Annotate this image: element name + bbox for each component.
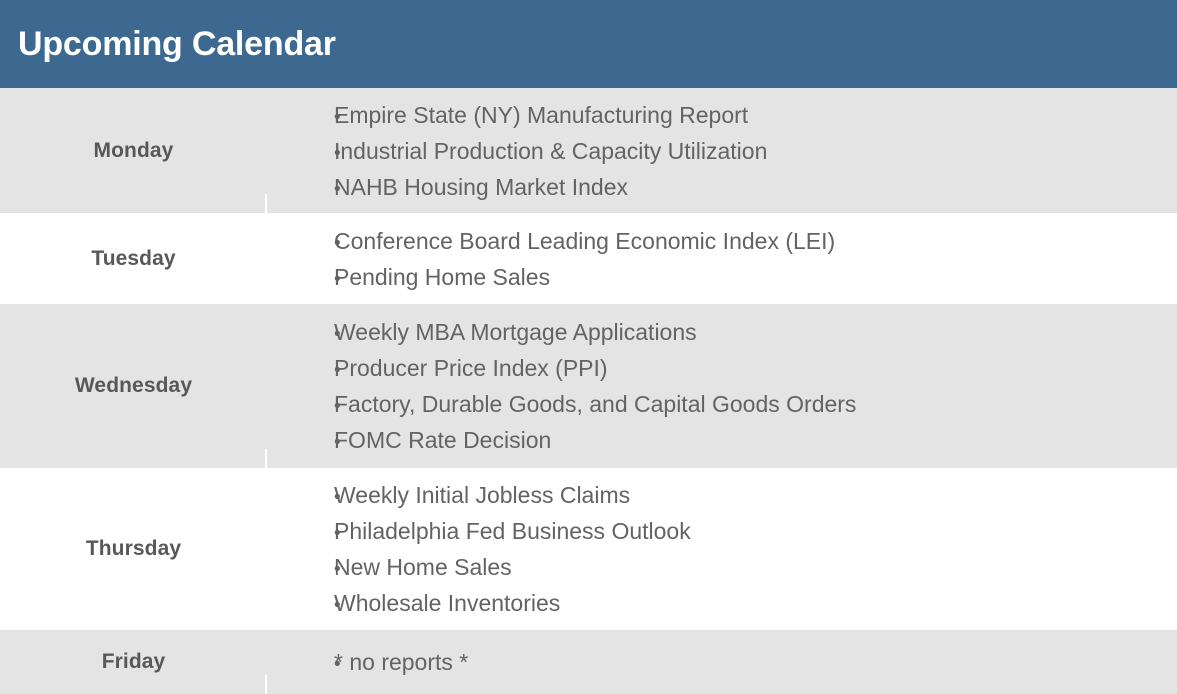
list-item-label: Conference Board Leading Economic Index … [334,223,835,259]
list-item-label: Factory, Durable Goods, and Capital Good… [334,386,856,422]
bullet-icon: • [267,226,334,262]
day-cell-monday: Monday [0,88,267,213]
bullet-icon: • [267,480,334,516]
list-item-label: * no reports * [334,644,468,680]
bullet-icon: • [267,552,334,588]
day-cell-friday: Friday [0,630,267,694]
items-cell-thursday: • Weekly Initial Jobless Claims • Philad… [267,468,1177,630]
bullet-icon: • [267,353,334,389]
list-item: • Weekly Initial Jobless Claims [267,477,1167,513]
list-item-label: FOMC Rate Decision [334,422,551,458]
day-cell-thursday: Thursday [0,468,267,630]
list-item: • Empire State (NY) Manufacturing Report [267,97,1167,133]
bullet-icon: • [267,317,334,353]
list-item-label: NAHB Housing Market Index [334,169,628,205]
bullet-icon: • [267,136,334,172]
list-item-label: Philadelphia Fed Business Outlook [334,513,691,549]
items-cell-friday: • * no reports * [267,630,1177,694]
list-item-label: Pending Home Sales [334,259,550,295]
list-item: • Pending Home Sales [267,259,1167,295]
day-label: Wednesday [75,374,192,398]
list-item: • * no reports * [267,644,1167,680]
page-title: Upcoming Calendar [18,27,336,61]
bullet-icon: • [267,262,334,298]
list-item: • Factory, Durable Goods, and Capital Go… [267,386,1167,422]
bullet-icon: • [267,516,334,552]
bullet-icon: • [267,647,334,683]
slide-header: Upcoming Calendar [0,0,1177,88]
list-item: • Producer Price Index (PPI) [267,350,1167,386]
items-cell-tuesday: • Conference Board Leading Economic Inde… [267,213,1177,304]
list-item-label: Wholesale Inventories [334,585,560,621]
items-cell-wednesday: • Weekly MBA Mortgage Applications • Pro… [267,304,1177,468]
table-row-thursday: Thursday • Weekly Initial Jobless Claims… [0,468,1177,630]
list-item: • Weekly MBA Mortgage Applications [267,314,1167,350]
list-item: • Industrial Production & Capacity Utili… [267,133,1167,169]
list-item: • FOMC Rate Decision [267,422,1167,458]
day-cell-wednesday: Wednesday [0,304,267,468]
bullet-icon: • [267,172,334,208]
list-item: • Conference Board Leading Economic Inde… [267,223,1167,259]
day-label: Monday [94,139,174,163]
day-label: Friday [102,650,166,674]
day-label: Tuesday [91,247,175,271]
table-row-tuesday: Tuesday • Conference Board Leading Econo… [0,213,1177,304]
calendar-table: Monday • Empire State (NY) Manufacturing… [0,88,1177,694]
table-row-friday: Friday • * no reports * [0,630,1177,694]
bullet-icon: • [267,588,334,624]
list-item-label: Producer Price Index (PPI) [334,350,608,386]
bullet-icon: • [267,389,334,425]
list-item-label: Empire State (NY) Manufacturing Report [334,97,748,133]
list-item-label: Industrial Production & Capacity Utiliza… [334,133,767,169]
list-item: • Wholesale Inventories [267,585,1167,621]
list-item: • Philadelphia Fed Business Outlook [267,513,1167,549]
items-cell-monday: • Empire State (NY) Manufacturing Report… [267,88,1177,213]
list-item: • NAHB Housing Market Index [267,169,1167,205]
bullet-icon: • [267,425,334,461]
table-row-monday: Monday • Empire State (NY) Manufacturing… [0,88,1177,213]
list-item-label: New Home Sales [334,549,512,585]
bullet-icon: • [267,100,334,136]
day-label: Thursday [86,537,181,561]
list-item-label: Weekly MBA Mortgage Applications [334,314,697,350]
list-item-label: Weekly Initial Jobless Claims [334,477,630,513]
list-item: • New Home Sales [267,549,1167,585]
table-row-wednesday: Wednesday • Weekly MBA Mortgage Applicat… [0,304,1177,468]
day-cell-tuesday: Tuesday [0,213,267,304]
upcoming-calendar-slide: Upcoming Calendar Monday • Empire State … [0,0,1177,694]
